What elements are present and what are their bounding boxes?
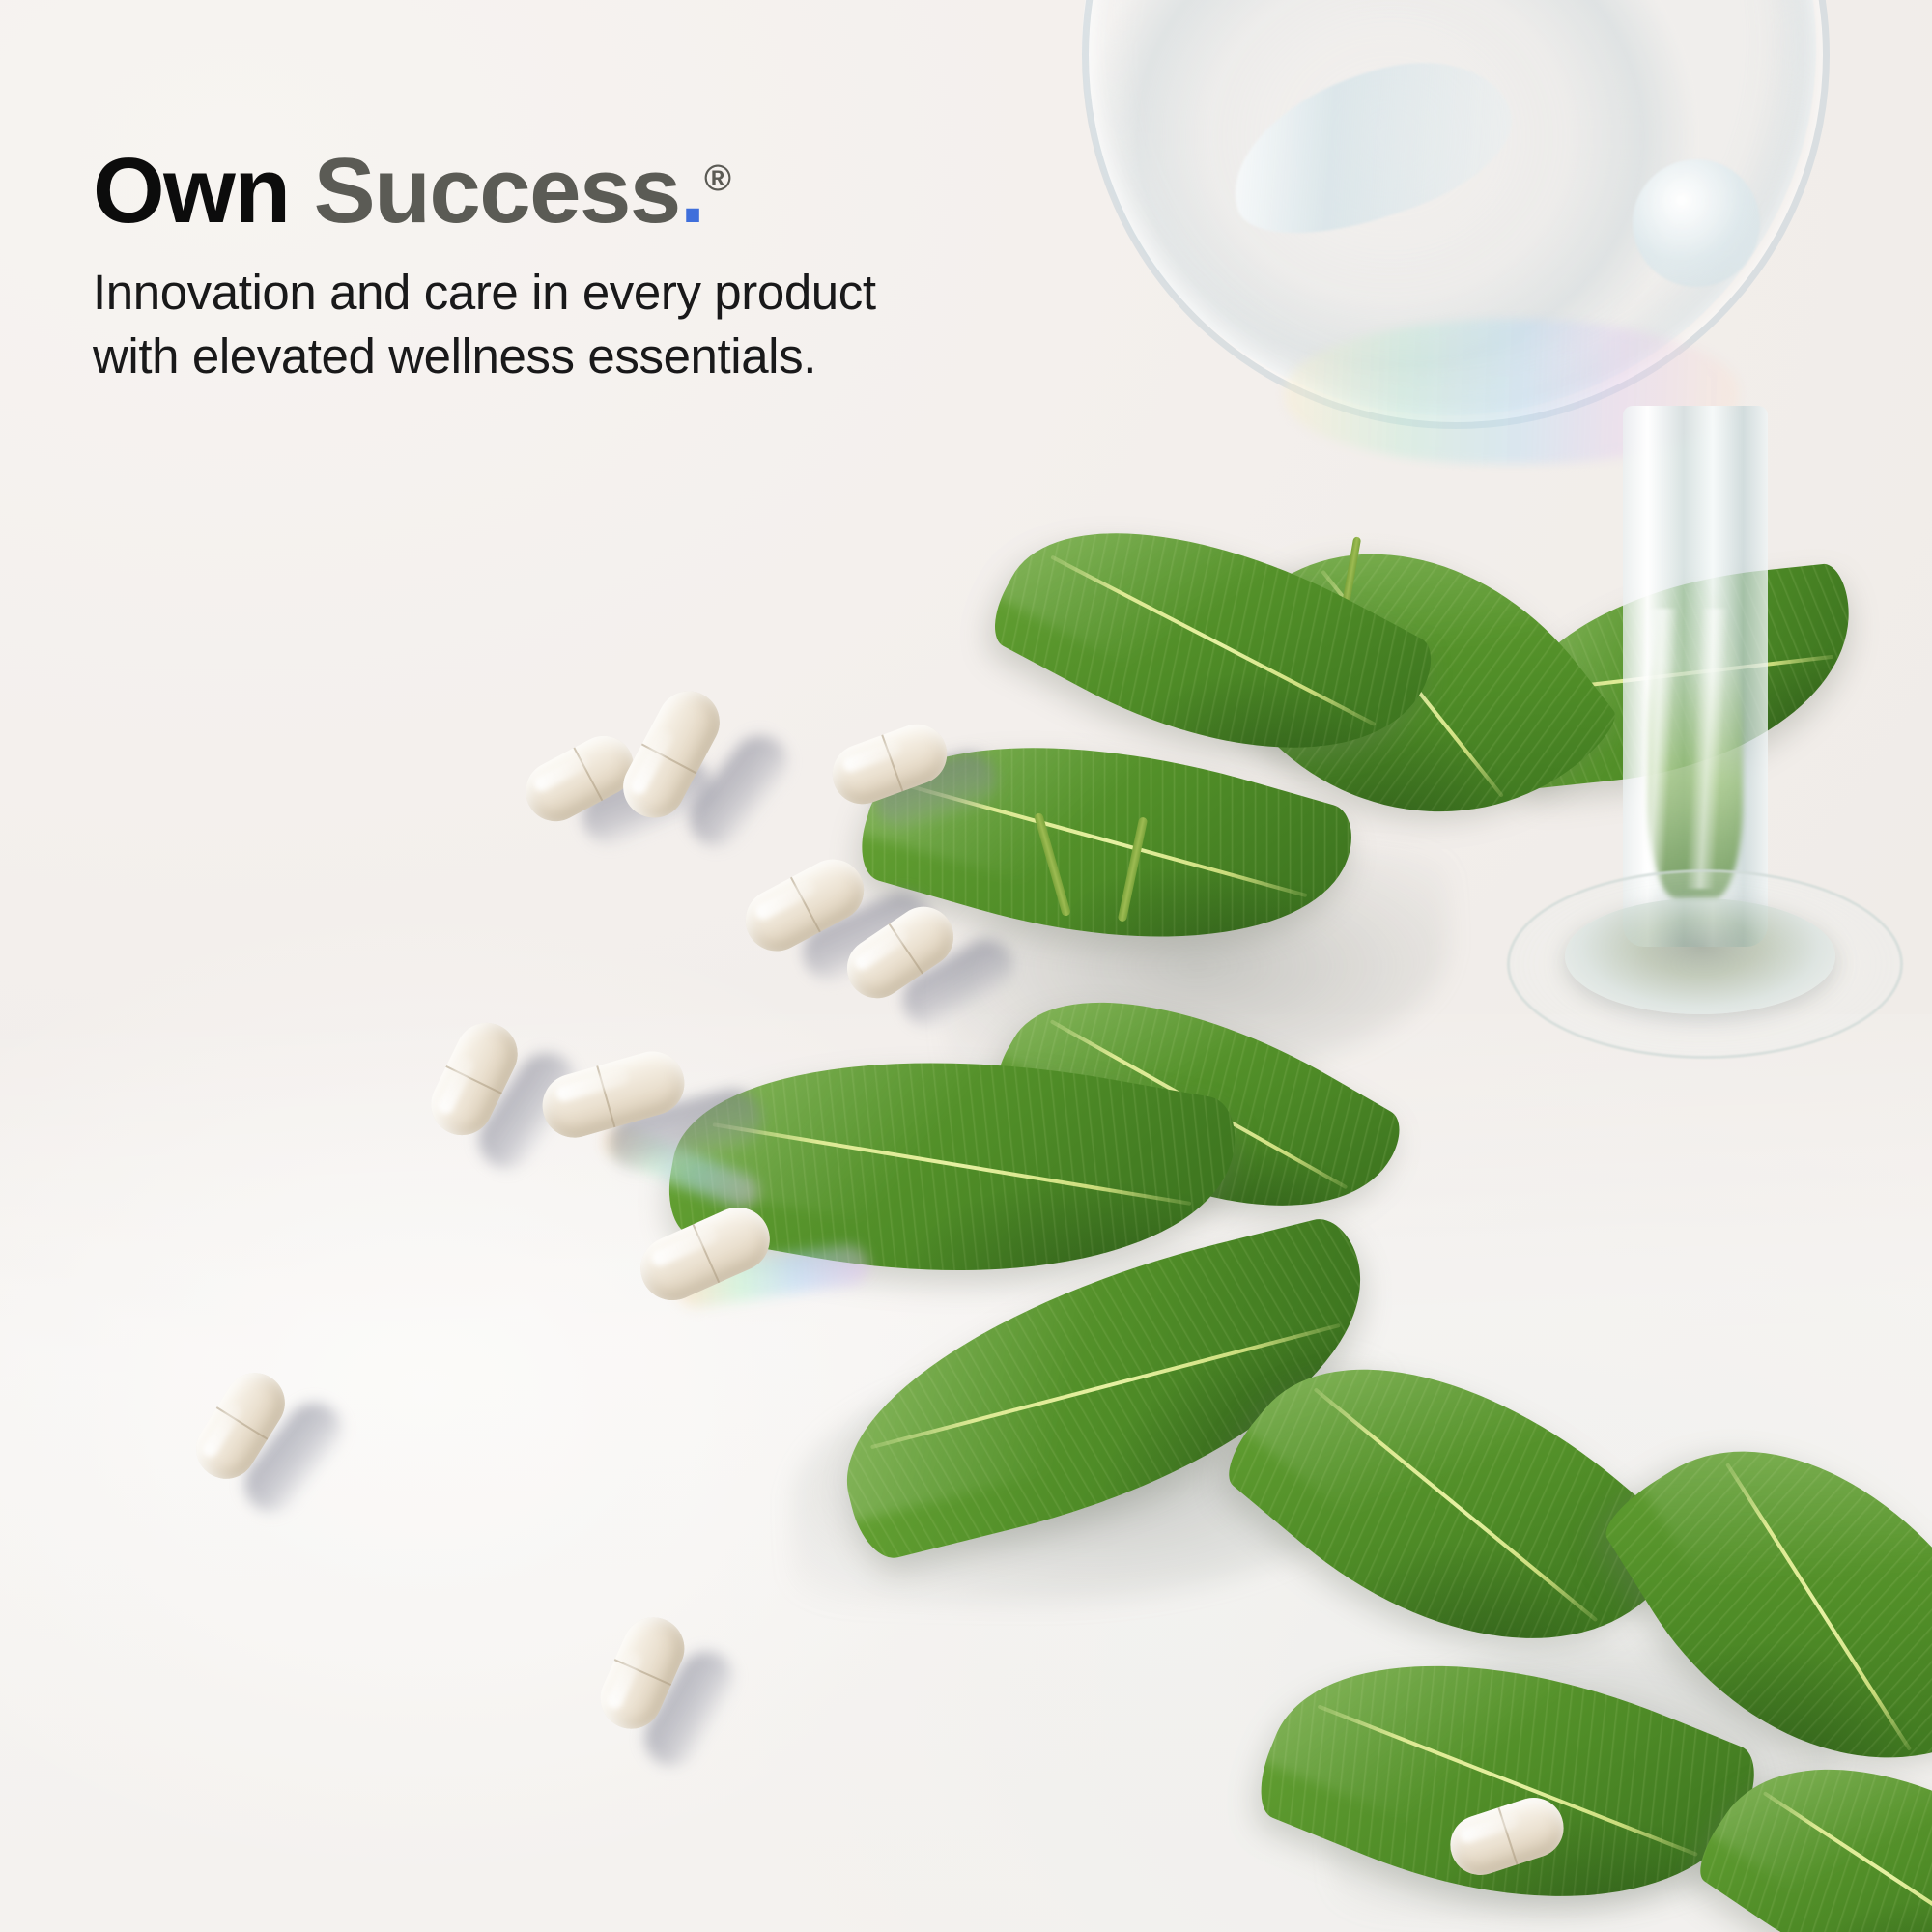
registered-trademark-icon: ® [704,158,731,199]
ad-creative-canvas: Own Success.® Innovation and care in eve… [0,0,1932,1932]
subheadline: Innovation and care in every product wit… [93,261,876,389]
headline-accent-dot: . [680,139,704,242]
headline-word-primary: Own [93,139,289,242]
headline-word-secondary: Success [314,139,680,242]
subheadline-line-2: with elevated wellness essentials. [93,325,876,388]
ad-copy-block: Own Success.® Innovation and care in eve… [93,145,876,389]
goblet-stem-highlights [1642,609,1748,889]
goblet-foot [1565,898,1835,1014]
page-title: Own Success.® [93,145,876,238]
subheadline-line-1: Innovation and care in every product [93,261,876,325]
goblet-highlight-right [1633,159,1760,287]
